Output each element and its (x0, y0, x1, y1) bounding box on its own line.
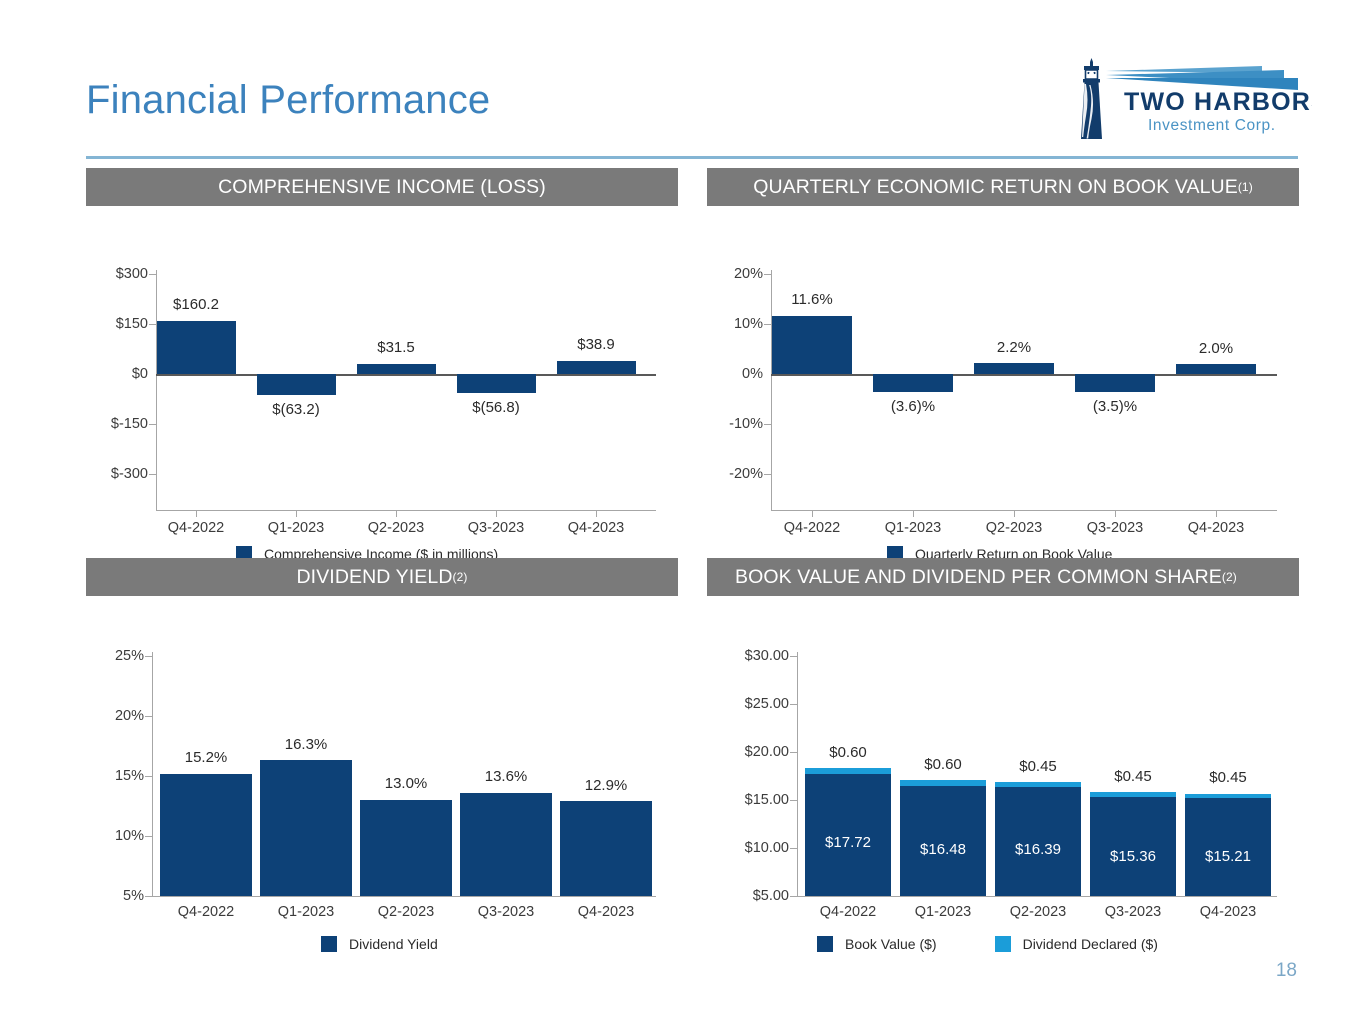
legend-dividend-yield: Dividend Yield (321, 936, 438, 952)
bar-value-label: 2.0% (1199, 340, 1233, 357)
x-category-label: Q2-2023 (368, 520, 424, 536)
y-axis-tick (149, 324, 156, 325)
y-tick-label: 20% (707, 266, 763, 282)
bar-value-label: 15.2% (185, 749, 228, 766)
x-category-label: Q1-2023 (885, 520, 941, 536)
legend-book-value: Book Value ($) Dividend Declared ($) (817, 936, 1158, 952)
x-category-label: Q3-2023 (1087, 520, 1143, 536)
page-number: 18 (1276, 960, 1297, 982)
y-axis-tick (145, 716, 152, 717)
banner-text: QUARTERLY ECONOMIC RETURN ON BOOK VALUE (753, 176, 1238, 199)
panel-banner-comprehensive-income: COMPREHENSIVE INCOME (LOSS) (86, 168, 678, 206)
bar-value-label: $(63.2) (272, 401, 320, 418)
y-tick-label: $0 (86, 366, 148, 382)
x-category-label: Q3-2023 (468, 520, 524, 536)
bar-dividend-yield[interactable] (260, 760, 352, 896)
legend-label: Dividend Declared ($) (1023, 936, 1158, 952)
y-axis-tick (764, 324, 771, 325)
bar-dividend-declared[interactable] (995, 782, 1081, 786)
bar-economic-return[interactable] (772, 316, 852, 374)
x-category-label: Q1-2023 (915, 904, 971, 920)
dividend-value-label: $0.45 (1019, 758, 1057, 775)
bar-economic-return[interactable] (1176, 364, 1256, 374)
x-axis-tick (913, 510, 914, 517)
y-axis-tick (764, 424, 771, 425)
legend-swatch-icon (321, 936, 337, 952)
bar-dividend-yield[interactable] (460, 793, 552, 896)
bar-value-label: (3.6)% (891, 398, 935, 415)
y-axis-tick (790, 848, 797, 849)
slide: Financial Performance TWO HARBORS (0, 0, 1365, 1024)
y-tick-label: 20% (86, 708, 144, 724)
bar-value-label: $160.2 (173, 296, 219, 313)
zero-line (156, 374, 656, 376)
x-axis-tick (1014, 510, 1015, 517)
y-axis-line (152, 652, 153, 896)
x-category-label: Q3-2023 (1105, 904, 1161, 920)
x-category-label: Q4-2022 (820, 904, 876, 920)
y-axis-tick (149, 474, 156, 475)
dividend-value-label: $0.60 (829, 744, 867, 761)
x-axis-line (771, 510, 1277, 511)
panel-book-value: BOOK VALUE AND DIVIDEND PER COMMON SHARE… (707, 558, 1299, 916)
y-tick-label: $20.00 (707, 744, 789, 760)
bar-value-label: 11.6% (791, 291, 832, 308)
x-category-label: Q2-2023 (1010, 904, 1066, 920)
bar-comprehensive-income[interactable] (457, 374, 536, 393)
bar-comprehensive-income[interactable] (257, 374, 336, 395)
banner-text: COMPREHENSIVE INCOME (LOSS) (218, 176, 546, 199)
bar-book-value[interactable] (1090, 797, 1176, 896)
x-category-label: Q4-2023 (1188, 520, 1244, 536)
x-axis-tick (496, 510, 497, 517)
x-axis-line (797, 896, 1277, 897)
y-axis-tick (790, 896, 797, 897)
logo-beams (1106, 66, 1298, 90)
bar-dividend-yield[interactable] (560, 801, 652, 896)
bar-value-label: 13.6% (485, 768, 528, 785)
bar-book-value[interactable] (1185, 798, 1271, 896)
y-tick-label: -10% (707, 416, 763, 432)
y-axis-tick (149, 424, 156, 425)
bar-economic-return[interactable] (873, 374, 953, 392)
dividend-value-label: $0.45 (1209, 769, 1247, 786)
y-tick-label: $150 (86, 316, 148, 332)
y-tick-label: $25.00 (707, 696, 789, 712)
panel-banner-book-value: BOOK VALUE AND DIVIDEND PER COMMON SHARE… (707, 558, 1299, 596)
y-tick-label: $-300 (86, 466, 148, 482)
panel-banner-economic-return: QUARTERLY ECONOMIC RETURN ON BOOK VALUE(… (707, 168, 1299, 206)
y-axis-tick (145, 776, 152, 777)
legend-label: Dividend Yield (349, 936, 438, 952)
y-tick-label: $300 (86, 266, 148, 282)
x-category-label: Q1-2023 (278, 904, 334, 920)
x-category-label: Q4-2022 (784, 520, 840, 536)
bar-value-label: $(56.8) (472, 399, 520, 416)
chart-comprehensive-income: $300 $150 $0 $-150 $-300 (86, 206, 678, 526)
y-axis-tick (145, 896, 152, 897)
svg-text:Investment Corp.: Investment Corp. (1148, 117, 1276, 134)
y-tick-label: $30.00 (707, 648, 789, 664)
y-axis-tick (790, 800, 797, 801)
x-category-label: Q4-2023 (578, 904, 634, 920)
y-axis-tick (790, 704, 797, 705)
y-tick-label: -20% (707, 466, 763, 482)
bar-value-label: 16.3% (285, 736, 328, 753)
book-value-label: $15.21 (1205, 848, 1251, 865)
bar-value-label: (3.5)% (1093, 398, 1137, 415)
lighthouse-icon (1081, 58, 1102, 139)
y-tick-label: $10.00 (707, 840, 789, 856)
legend-swatch-icon (817, 936, 833, 952)
bar-dividend-yield[interactable] (160, 774, 252, 896)
x-category-label: Q4-2022 (178, 904, 234, 920)
y-tick-label: 10% (707, 316, 763, 332)
bar-dividend-declared[interactable] (1185, 794, 1271, 798)
chart-dividend-yield: 25% 20% 15% 10% 5% 15.2% 16.3% (86, 596, 678, 916)
x-category-label: Q3-2023 (478, 904, 534, 920)
x-category-label: Q1-2023 (268, 520, 324, 536)
bar-value-label: $31.5 (377, 339, 415, 356)
company-logo: TWO HARBORS Investment Corp. (1062, 44, 1312, 144)
legend-item: Book Value ($) (817, 936, 937, 952)
y-tick-label: 0% (707, 366, 763, 382)
panel-banner-dividend-yield: DIVIDEND YIELD(2) (86, 558, 678, 596)
dividend-value-label: $0.60 (924, 756, 962, 773)
panel-dividend-yield: DIVIDEND YIELD(2) 25% 20% 15% 10% 5% (86, 558, 678, 916)
zero-line (771, 374, 1277, 376)
chart-book-value: $30.00 $25.00 $20.00 $15.00 $10.00 $5.00 (707, 596, 1299, 916)
svg-text:TWO HARBORS: TWO HARBORS (1124, 88, 1312, 116)
book-value-label: $15.36 (1110, 848, 1156, 865)
panel-economic-return: QUARTERLY ECONOMIC RETURN ON BOOK VALUE(… (707, 168, 1299, 526)
y-axis-tick (764, 474, 771, 475)
banner-text: DIVIDEND YIELD (297, 566, 453, 589)
y-tick-label: $15.00 (707, 792, 789, 808)
y-axis-tick (790, 656, 797, 657)
panel-comprehensive-income: COMPREHENSIVE INCOME (LOSS) $300 $150 $0… (86, 168, 678, 526)
book-value-label: $16.48 (920, 841, 966, 858)
bar-comprehensive-income[interactable] (157, 321, 236, 374)
y-axis-line (771, 270, 772, 510)
banner-text: BOOK VALUE AND DIVIDEND PER COMMON SHARE (735, 566, 1222, 589)
book-value-label: $17.72 (825, 834, 871, 851)
x-axis-tick (1115, 510, 1116, 517)
book-value-label: $16.39 (1015, 841, 1061, 858)
x-axis-tick (196, 510, 197, 517)
x-axis-line (156, 510, 656, 511)
bar-dividend-declared[interactable] (805, 768, 891, 774)
x-axis-tick (296, 510, 297, 517)
legend-item: Dividend Yield (321, 936, 438, 952)
x-axis-tick (1216, 510, 1217, 517)
x-category-label: Q2-2023 (378, 904, 434, 920)
y-tick-label: $-150 (86, 416, 148, 432)
x-axis-tick (596, 510, 597, 517)
y-axis-tick (790, 752, 797, 753)
bar-dividend-yield[interactable] (360, 800, 452, 896)
bar-value-label: $38.9 (577, 336, 615, 353)
y-axis-line (797, 652, 798, 896)
bar-economic-return[interactable] (974, 363, 1054, 374)
legend-swatch-icon (995, 936, 1011, 952)
y-axis-tick (145, 656, 152, 657)
bar-value-label: 2.2% (997, 339, 1031, 356)
x-category-label: Q4-2023 (568, 520, 624, 536)
y-tick-label: 25% (86, 648, 144, 664)
chart-economic-return: 20% 10% 0% -10% -20% 11.6% (3.6) (707, 206, 1299, 526)
title-divider (86, 156, 1298, 159)
y-tick-label: 5% (86, 888, 144, 904)
y-tick-label: 10% (86, 828, 144, 844)
bar-dividend-declared[interactable] (1090, 792, 1176, 796)
bar-comprehensive-income[interactable] (557, 361, 636, 374)
y-tick-label: 15% (86, 768, 144, 784)
x-category-label: Q4-2022 (168, 520, 224, 536)
bar-value-label: 13.0% (385, 775, 428, 792)
x-axis-line (152, 896, 656, 897)
bar-economic-return[interactable] (1075, 374, 1155, 392)
bar-comprehensive-income[interactable] (357, 364, 436, 375)
bar-dividend-declared[interactable] (900, 780, 986, 786)
y-axis-tick (149, 274, 156, 275)
bar-value-label: 12.9% (585, 777, 628, 794)
y-tick-label: $5.00 (707, 888, 789, 904)
y-axis-line (156, 270, 157, 510)
legend-label: Book Value ($) (845, 936, 937, 952)
y-axis-tick (764, 274, 771, 275)
x-axis-tick (812, 510, 813, 517)
x-axis-tick (396, 510, 397, 517)
dividend-value-label: $0.45 (1114, 768, 1152, 785)
legend-item: Dividend Declared ($) (995, 936, 1158, 952)
x-category-label: Q2-2023 (986, 520, 1042, 536)
x-category-label: Q4-2023 (1200, 904, 1256, 920)
page-title: Financial Performance (86, 78, 490, 123)
y-axis-tick (145, 836, 152, 837)
